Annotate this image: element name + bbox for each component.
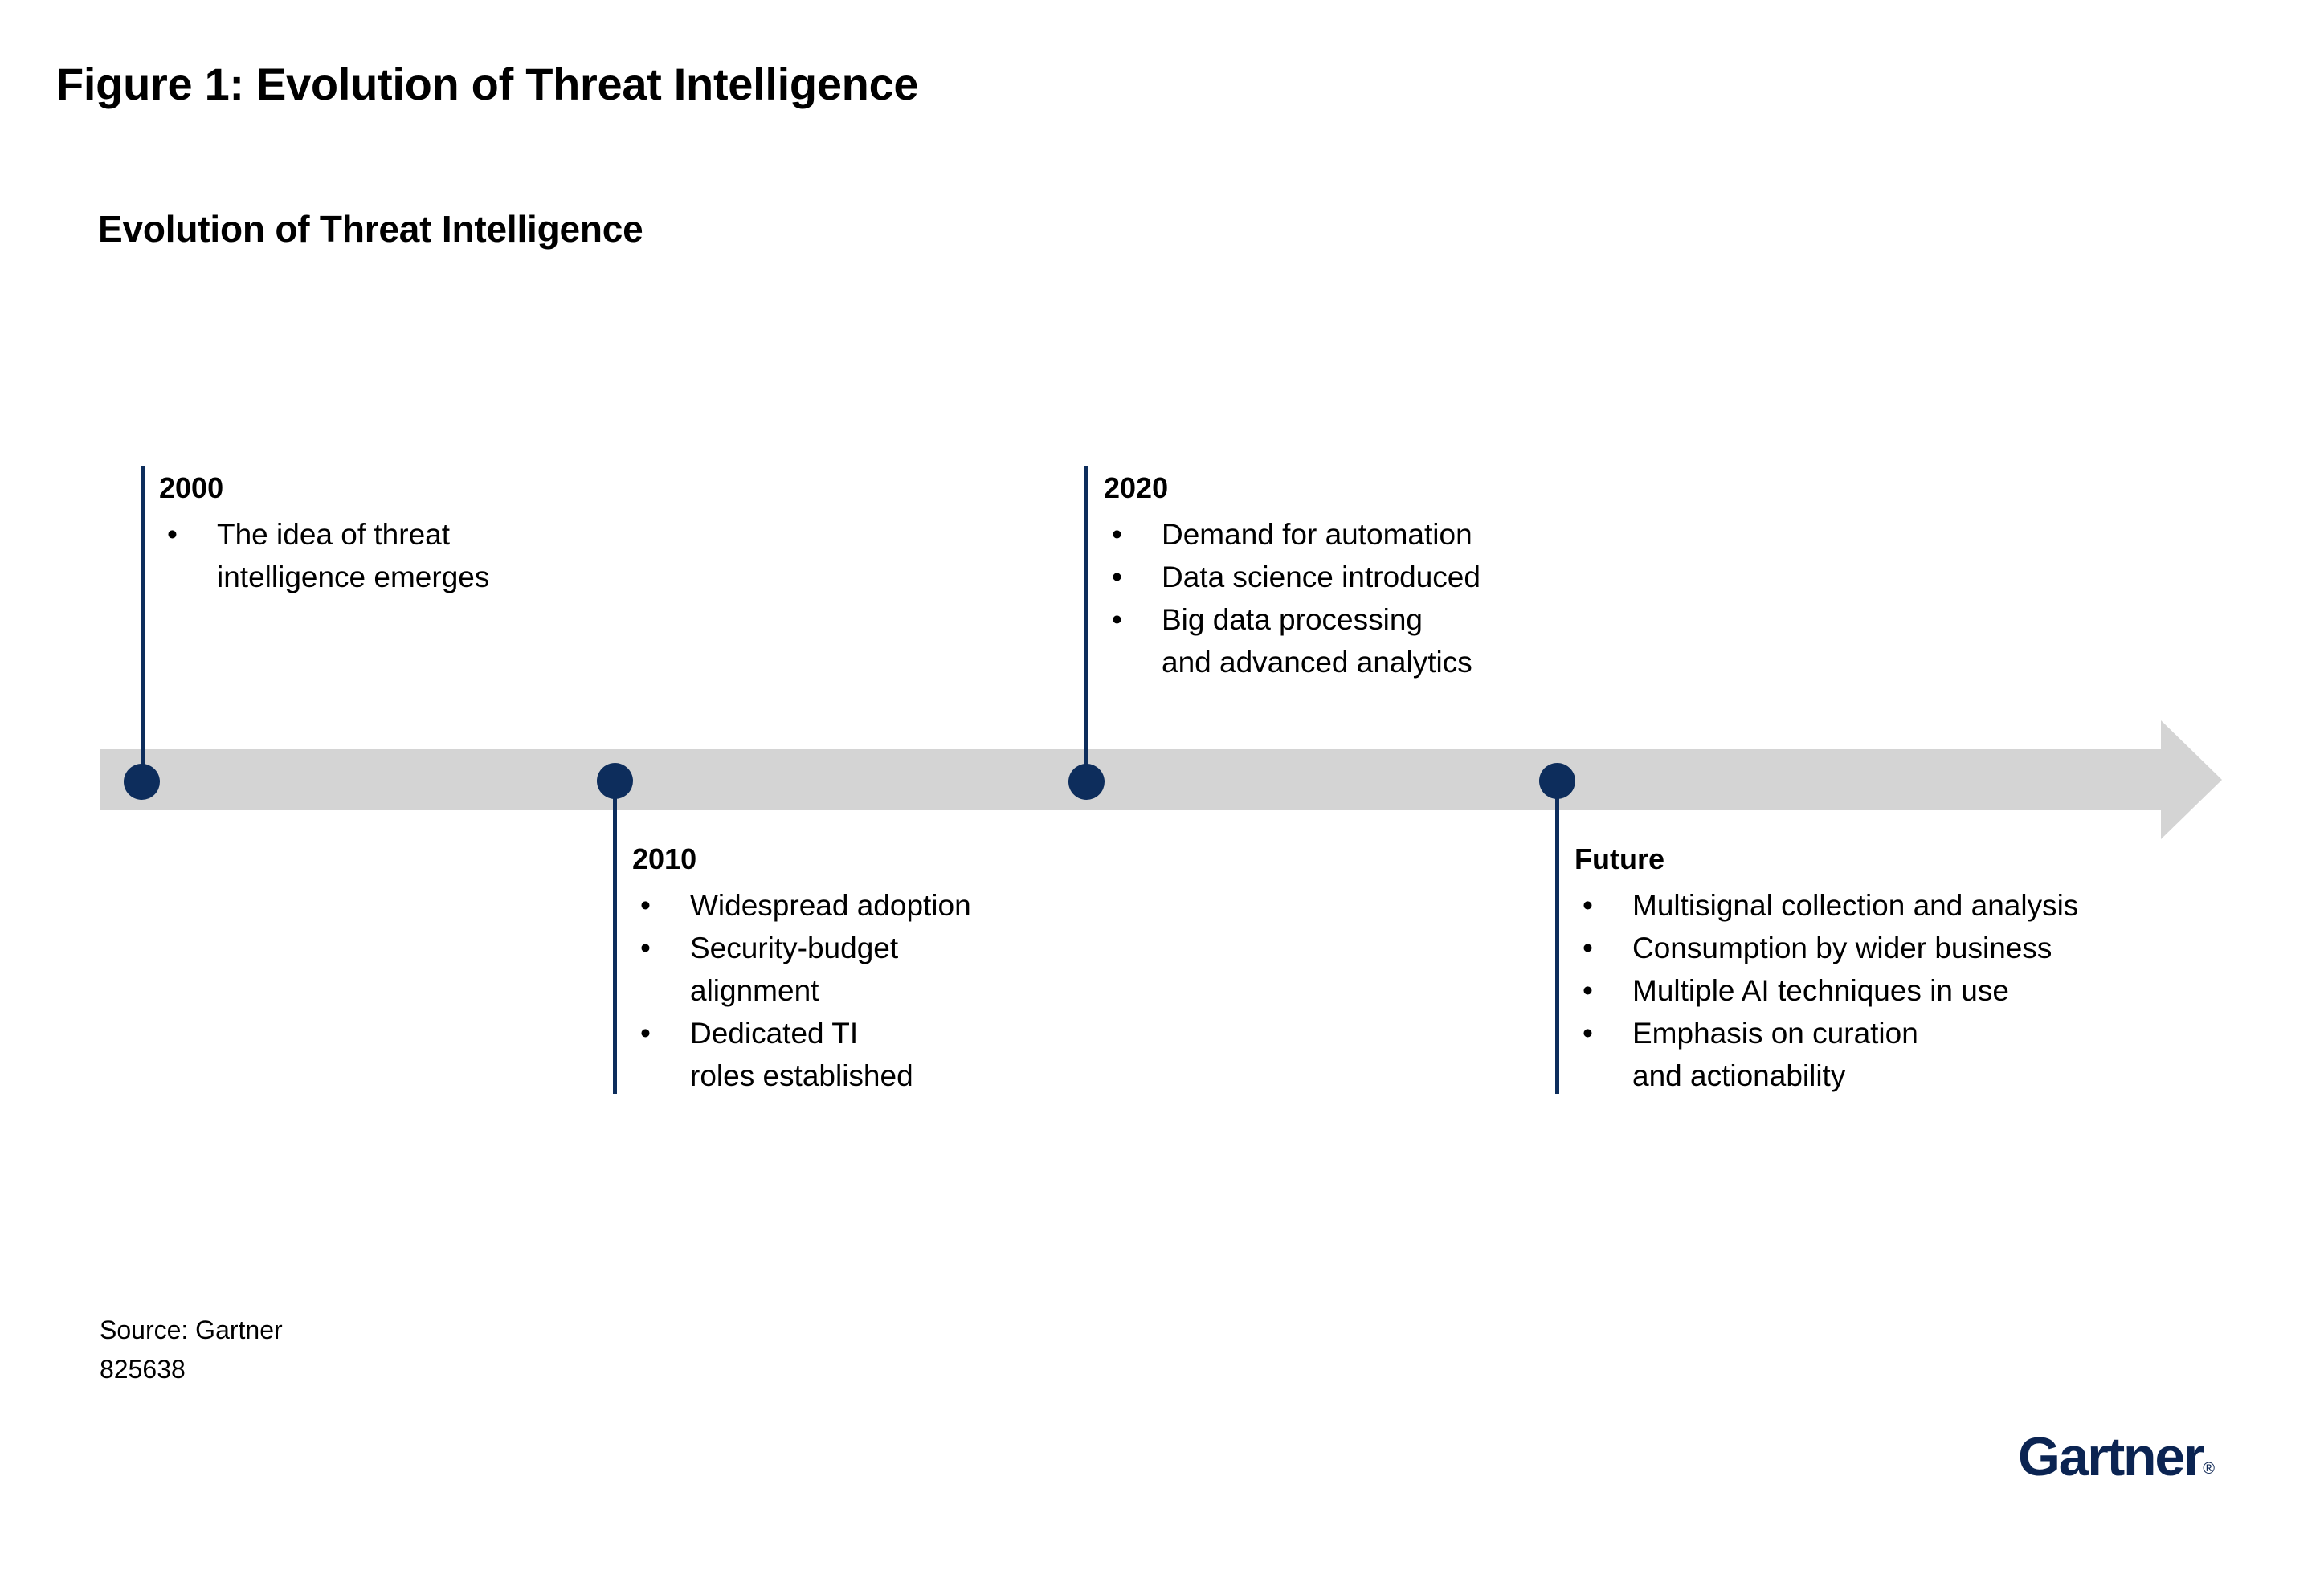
bullet-icon: • xyxy=(1583,1012,1593,1054)
milestone-dot-2000[interactable] xyxy=(124,764,160,800)
bullet-icon: • xyxy=(1112,513,1122,556)
bullet-icon: • xyxy=(640,884,651,927)
list-item: • The idea of threat intelligence emerge… xyxy=(159,513,657,598)
milestone-item-text: Big data processing and advanced analyti… xyxy=(1162,598,1666,683)
milestone-callout-2010: 2010 • Widespread adoption • Security-bu… xyxy=(632,842,1130,1097)
milestone-dot-2020[interactable] xyxy=(1068,764,1105,800)
figure-title: Figure 1: Evolution of Threat Intelligen… xyxy=(56,58,918,110)
milestone-item-text: Data science introduced xyxy=(1162,556,1666,598)
milestone-item-text: Widespread adoption xyxy=(690,884,1130,927)
gartner-logo-text: Gartner xyxy=(2018,1426,2203,1487)
milestone-bullet-list-2000: • The idea of threat intelligence emerge… xyxy=(159,513,657,598)
milestone-item-text: The idea of threat intelligence emerges xyxy=(217,513,657,598)
milestone-year-future: Future xyxy=(1575,842,2297,877)
milestone-stem-2010 xyxy=(613,781,617,1094)
milestone-callout-future: Future • Multisignal collection and anal… xyxy=(1575,842,2297,1097)
milestone-stem-2020 xyxy=(1084,466,1088,781)
timeline-arrow-right-icon xyxy=(2161,720,2222,839)
milestone-bullet-list-future: • Multisignal collection and analysis • … xyxy=(1575,884,2297,1097)
list-item: • Widespread adoption xyxy=(632,884,1130,927)
list-item: • Consumption by wider business xyxy=(1575,927,2297,969)
milestone-item-text: Dedicated TI roles established xyxy=(690,1012,1130,1097)
bullet-icon: • xyxy=(1583,969,1593,1012)
bullet-icon: • xyxy=(640,927,651,969)
list-item: • Multiple AI techniques in use xyxy=(1575,969,2297,1012)
milestone-item-text: Multiple AI techniques in use xyxy=(1632,969,2297,1012)
milestone-dot-2010[interactable] xyxy=(597,763,633,799)
bullet-icon: • xyxy=(1112,556,1122,598)
list-item: • Multisignal collection and analysis xyxy=(1575,884,2297,927)
milestone-item-text: Consumption by wider business xyxy=(1632,927,2297,969)
chart-subtitle: Evolution of Threat Intelligence xyxy=(98,207,643,251)
milestone-stem-future xyxy=(1555,781,1559,1094)
list-item: • Data science introduced xyxy=(1104,556,1666,598)
bullet-icon: • xyxy=(1112,598,1122,641)
milestone-bullet-list-2010: • Widespread adoption • Security-budget … xyxy=(632,884,1130,1097)
milestone-callout-2020: 2020 • Demand for automation • Data scie… xyxy=(1104,471,1666,683)
milestone-callout-2000: 2000 • The idea of threat intelligence e… xyxy=(159,471,657,598)
timeline-bar xyxy=(100,749,2163,810)
source-block: Source: Gartner 825638 xyxy=(100,1311,283,1389)
milestone-item-text: Security-budget alignment xyxy=(690,927,1130,1012)
list-item: • Dedicated TI roles established xyxy=(632,1012,1130,1097)
figure-canvas: Figure 1: Evolution of Threat Intelligen… xyxy=(0,0,2324,1570)
milestone-year-2020: 2020 xyxy=(1104,471,1666,506)
bullet-icon: • xyxy=(1583,927,1593,969)
bullet-icon: • xyxy=(167,513,178,556)
list-item: • Security-budget alignment xyxy=(632,927,1130,1012)
source-label: Source: Gartner xyxy=(100,1311,283,1350)
milestone-year-2010: 2010 xyxy=(632,842,1130,877)
bullet-icon: • xyxy=(1583,884,1593,927)
milestone-year-2000: 2000 xyxy=(159,471,657,506)
bullet-icon: • xyxy=(640,1012,651,1054)
milestone-bullet-list-2020: • Demand for automation • Data science i… xyxy=(1104,513,1666,683)
list-item: • Demand for automation xyxy=(1104,513,1666,556)
milestone-dot-future[interactable] xyxy=(1539,763,1575,799)
list-item: • Big data processing and advanced analy… xyxy=(1104,598,1666,683)
document-id: 825638 xyxy=(100,1350,283,1389)
milestone-item-text: Multisignal collection and analysis xyxy=(1632,884,2297,927)
gartner-logo: Gartner® xyxy=(2018,1425,2215,1488)
registered-trademark-icon: ® xyxy=(2203,1460,2215,1478)
list-item: • Emphasis on curation and actionability xyxy=(1575,1012,2297,1097)
milestone-stem-2000 xyxy=(141,466,145,781)
milestone-item-text: Demand for automation xyxy=(1162,513,1666,556)
milestone-item-text: Emphasis on curation and actionability xyxy=(1632,1012,2297,1097)
